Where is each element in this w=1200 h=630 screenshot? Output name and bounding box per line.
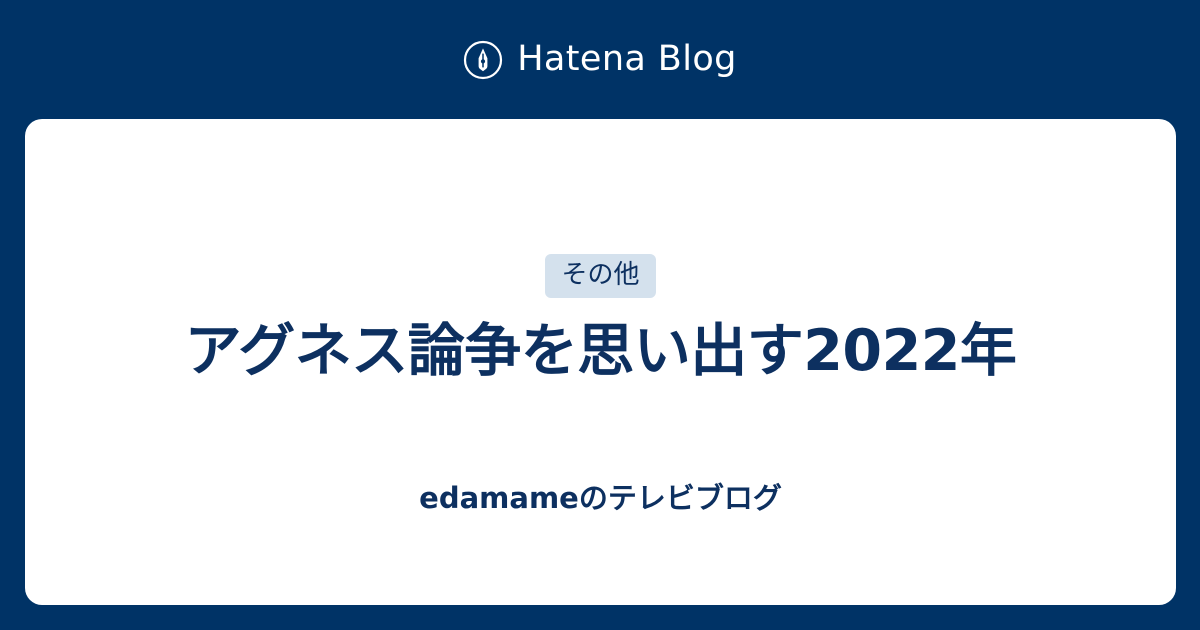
entry-card: その他 アグネス論争を思い出す2022年 edamameのテレビブログ <box>25 119 1176 605</box>
ogp-card-canvas: Hatena Blog その他 アグネス論争を思い出す2022年 edamame… <box>0 0 1200 630</box>
pen-nib-in-circle-icon <box>463 40 503 80</box>
brand-name: Hatena Blog <box>517 42 737 77</box>
entry-card-content: その他 アグネス論争を思い出す2022年 edamameのテレビブログ <box>25 119 1176 516</box>
entry-title: アグネス論争を思い出す2022年 <box>185 320 1017 384</box>
brand-header: Hatena Blog <box>0 0 1200 119</box>
hatena-blog-logo <box>463 40 503 80</box>
category-badge[interactable]: その他 <box>545 254 655 298</box>
blog-title: edamameのテレビブログ <box>419 481 782 516</box>
